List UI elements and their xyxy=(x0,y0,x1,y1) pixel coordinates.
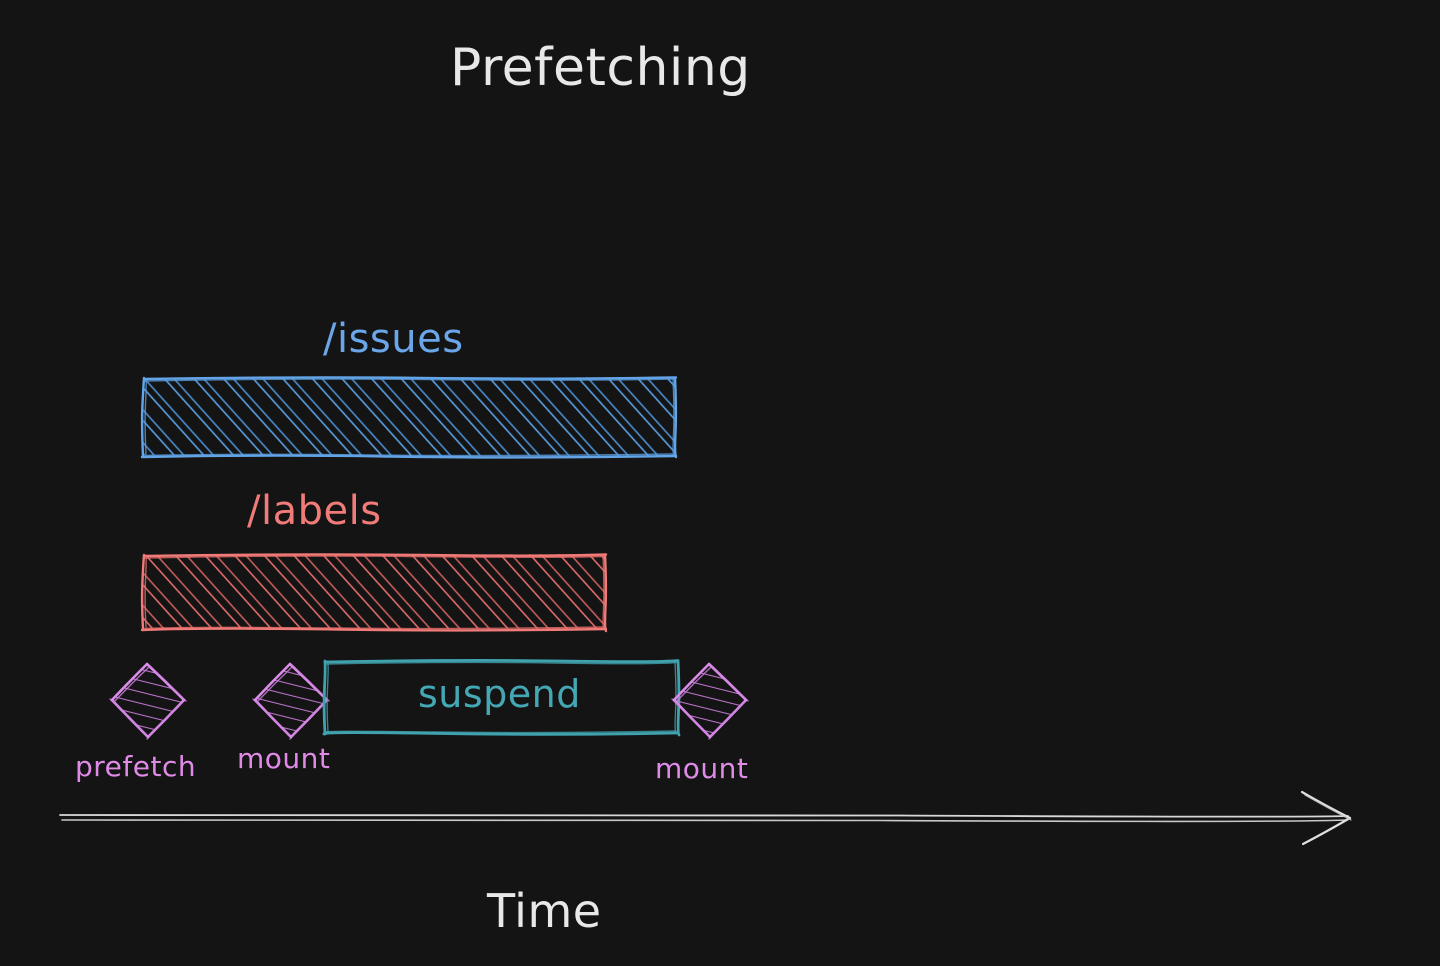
mount-diamond-marker-right xyxy=(672,664,748,739)
labels-bar xyxy=(142,554,606,631)
mount-diamond-marker-left xyxy=(253,664,329,739)
prefetch-diamond-marker xyxy=(110,664,186,739)
issues-bar-label: /issues xyxy=(323,316,464,362)
issues-bar xyxy=(142,377,676,457)
page-title: Prefetching xyxy=(450,38,751,98)
sketch-canvas: Prefetching /issues /labels suspend pref… xyxy=(0,0,1440,966)
mount-marker-label-left: mount xyxy=(237,742,330,775)
sketch-drawing-layer xyxy=(0,0,1440,966)
time-axis-label: Time xyxy=(487,884,602,938)
mount-marker-label-right: mount xyxy=(655,752,748,785)
time-axis-arrow xyxy=(60,792,1351,844)
suspend-box-label: suspend xyxy=(418,672,581,716)
prefetch-marker-label: prefetch xyxy=(75,750,196,783)
labels-bar-label: /labels xyxy=(247,488,382,534)
